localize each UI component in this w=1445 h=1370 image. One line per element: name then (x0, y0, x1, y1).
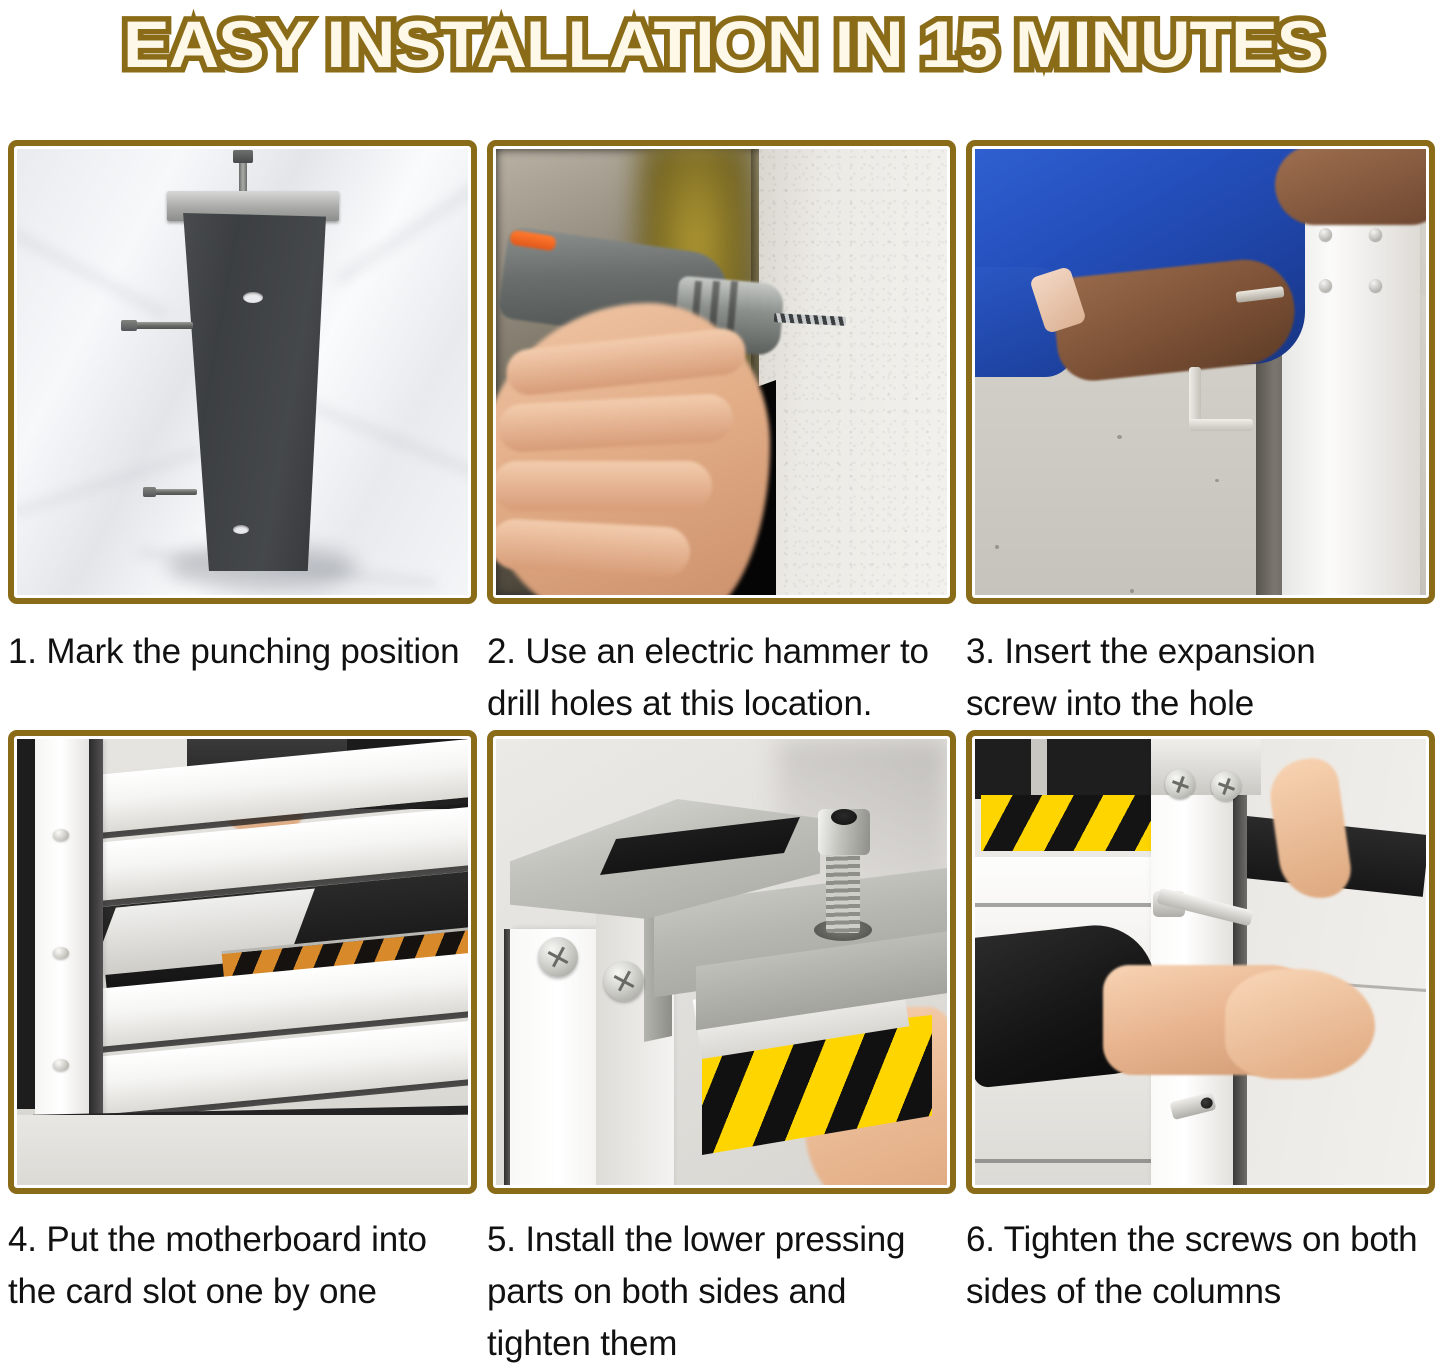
step-photo-frame-6 (966, 730, 1435, 1194)
step-caption-3: 3. Insert the expansion screw into the h… (966, 626, 1435, 730)
hazard-stripe (981, 795, 1151, 851)
step-card-3: 3. Insert the expansion screw into the h… (966, 140, 1435, 730)
allen-key (1189, 367, 1201, 431)
step-photo-frame-5 (487, 730, 956, 1194)
side-bolt (143, 489, 197, 495)
photo-tighten-screws (975, 739, 1426, 1185)
photo-install-lower-pressing-parts (496, 739, 947, 1185)
step-caption-4: 4. Put the motherboard into the card slo… (8, 1214, 477, 1318)
floor-speck (1215, 479, 1219, 482)
photo-insert-boards-into-slot (17, 739, 468, 1185)
bolt-socket (831, 809, 857, 825)
step-caption-2: 2. Use an electric hammer to drill holes… (487, 626, 956, 730)
step-card-4: 4. Put the motherboard into the card slo… (8, 730, 477, 1370)
column-screw (53, 947, 69, 959)
cloth-fold (17, 448, 203, 516)
cloth-fold (305, 401, 468, 506)
step-photo-frame-1 (8, 140, 477, 604)
step-photo-frame-2 (487, 140, 956, 604)
wall-surface (759, 149, 947, 595)
steps-grid: 1. Mark the punching position (8, 140, 1437, 1370)
step-caption-5: 5. Install the lower pressing parts on b… (487, 1214, 956, 1370)
floor (17, 1115, 468, 1185)
photo-mark-punching-position (17, 149, 468, 595)
side-bolt (121, 322, 193, 329)
marking-hole (243, 292, 263, 303)
phillips-screw (1165, 769, 1195, 799)
column-screw (1369, 228, 1382, 241)
board-seam (975, 1159, 1155, 1163)
marking-hole (233, 525, 249, 534)
steps-row-bottom: 4. Put the motherboard into the card slo… (8, 730, 1437, 1370)
column-post (174, 213, 326, 571)
steps-row-top: 1. Mark the punching position (8, 140, 1437, 730)
white-column (1151, 739, 1235, 1185)
background-post (1031, 739, 1047, 799)
column-screw (1369, 279, 1382, 292)
page-title: EASY INSTALLATION IN 15 MINUTES (123, 11, 1322, 77)
fingers (1225, 969, 1375, 1079)
photo-insert-expansion-screw (975, 149, 1426, 595)
phillips-screw (538, 937, 578, 977)
floor-speck (1117, 435, 1122, 439)
card-slot (89, 739, 103, 1139)
step-photo-frame-3 (966, 140, 1435, 604)
top-bolt-head (233, 150, 253, 163)
cloth-fold (17, 227, 168, 319)
step-card-1: 1. Mark the punching position (8, 140, 477, 730)
column-screw (53, 1059, 69, 1071)
floor-speck (995, 545, 999, 549)
column-screw (1319, 279, 1332, 292)
finger (496, 461, 712, 511)
phillips-screw (1211, 771, 1241, 801)
column-screw (53, 829, 69, 841)
finger (496, 518, 691, 578)
upper-hand (1275, 149, 1426, 225)
step-photo-frame-4 (8, 730, 477, 1194)
phillips-screw (604, 961, 644, 1001)
photo-drill-holes (496, 149, 947, 595)
background-dark (975, 739, 1155, 799)
step-card-5: 5. Install the lower pressing parts on b… (487, 730, 956, 1370)
column-edge (1233, 739, 1247, 1185)
step-card-6: 6. Tighten the screws on both sides of t… (966, 730, 1435, 1370)
board-seam (975, 903, 1155, 907)
step-card-2: 2. Use an electric hammer to drill holes… (487, 140, 956, 730)
column-screw (1319, 228, 1332, 241)
step-caption-6: 6. Tighten the screws on both sides of t… (966, 1214, 1435, 1318)
floor-speck (1130, 589, 1134, 593)
header-banner: EASY INSTALLATION IN 15 MINUTES (0, 0, 1445, 88)
cloth-fold (335, 149, 468, 284)
step-caption-1: 1. Mark the punching position (8, 626, 477, 678)
bolt-thread (826, 845, 860, 933)
